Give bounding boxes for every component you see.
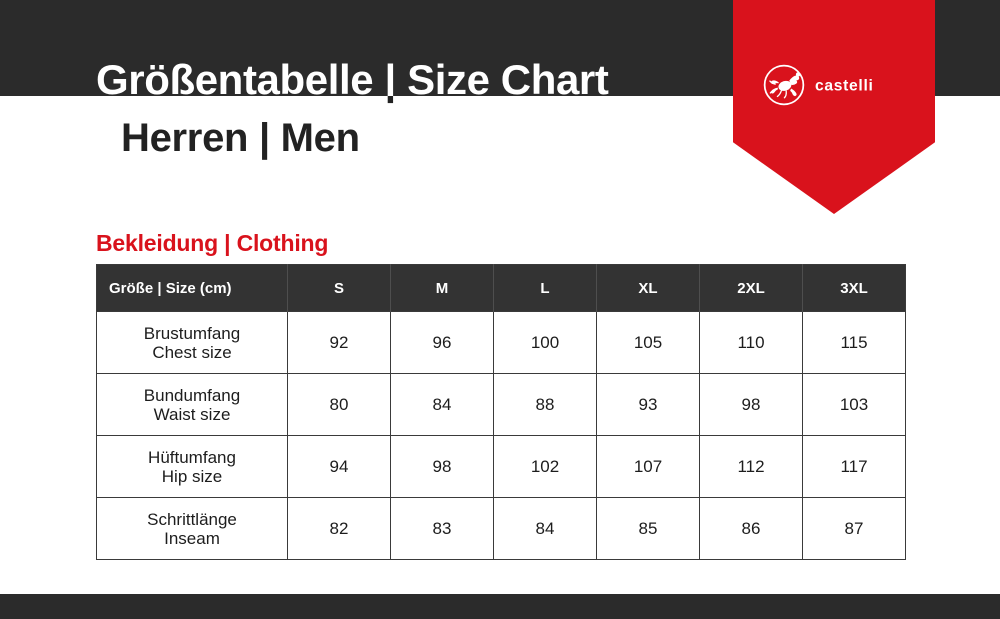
cell-chest-xl: 105 xyxy=(597,312,700,374)
cell-inseam-3xl: 87 xyxy=(803,498,906,560)
cell-chest-2xl: 110 xyxy=(700,312,803,374)
cell-hip-xl: 107 xyxy=(597,436,700,498)
svg-text:castelli: castelli xyxy=(815,78,874,95)
cell-waist-s: 80 xyxy=(288,374,391,436)
cell-hip-2xl: 112 xyxy=(700,436,803,498)
table-row: Bundumfang Waist size 80 84 88 93 98 103 xyxy=(97,374,906,436)
cell-hip-m: 98 xyxy=(391,436,494,498)
cell-waist-2xl: 98 xyxy=(700,374,803,436)
cell-hip-3xl: 117 xyxy=(803,436,906,498)
column-header-m: M xyxy=(391,265,494,312)
row-label-en: Hip size xyxy=(97,467,287,486)
cell-waist-l: 88 xyxy=(494,374,597,436)
column-header-2xl: 2XL xyxy=(700,265,803,312)
row-label-en: Waist size xyxy=(97,405,287,424)
row-label-de: Bundumfang xyxy=(97,386,287,405)
cell-waist-xl: 93 xyxy=(597,374,700,436)
size-chart-page: castelli Größentabelle | Size Chart Größ… xyxy=(0,0,1000,619)
row-label-de: Hüftumfang xyxy=(97,448,287,467)
column-header-label: Größe | Size (cm) xyxy=(97,265,288,312)
footer-band xyxy=(0,594,1000,619)
section-heading-clothing: Bekleidung | Clothing xyxy=(96,230,328,257)
row-label-inseam: Schrittlänge Inseam xyxy=(97,498,288,560)
size-chart-table-wrap: Größe | Size (cm) S M L XL 2XL 3XL Brust… xyxy=(96,264,905,560)
cell-hip-s: 94 xyxy=(288,436,391,498)
table-row: Hüftumfang Hip size 94 98 102 107 112 11… xyxy=(97,436,906,498)
cell-inseam-xl: 85 xyxy=(597,498,700,560)
column-header-l: L xyxy=(494,265,597,312)
cell-chest-l: 100 xyxy=(494,312,597,374)
cell-waist-3xl: 103 xyxy=(803,374,906,436)
cell-inseam-l: 84 xyxy=(494,498,597,560)
castelli-wordmark-icon: castelli xyxy=(815,74,907,96)
table-row: Schrittlänge Inseam 82 83 84 85 86 87 xyxy=(97,498,906,560)
row-label-hip: Hüftumfang Hip size xyxy=(97,436,288,498)
cell-inseam-2xl: 86 xyxy=(700,498,803,560)
table-row: Brustumfang Chest size 92 96 100 105 110… xyxy=(97,312,906,374)
cell-hip-l: 102 xyxy=(494,436,597,498)
brand-logo: castelli xyxy=(733,58,935,112)
column-header-xl: XL xyxy=(597,265,700,312)
cell-waist-m: 84 xyxy=(391,374,494,436)
row-label-de: Brustumfang xyxy=(97,324,287,343)
cell-inseam-m: 83 xyxy=(391,498,494,560)
table-header-row: Größe | Size (cm) S M L XL 2XL 3XL xyxy=(97,265,906,312)
size-chart-table: Größe | Size (cm) S M L XL 2XL 3XL Brust… xyxy=(96,264,906,560)
column-header-3xl: 3XL xyxy=(803,265,906,312)
row-label-waist: Bundumfang Waist size xyxy=(97,374,288,436)
row-label-en: Chest size xyxy=(97,343,287,362)
page-subtitle: Herren | Men xyxy=(121,112,360,164)
cell-chest-m: 96 xyxy=(391,312,494,374)
scorpion-in-circle-icon xyxy=(762,63,806,107)
row-label-en: Inseam xyxy=(97,529,287,548)
column-header-s: S xyxy=(288,265,391,312)
cell-chest-s: 92 xyxy=(288,312,391,374)
brand-pennant: castelli xyxy=(733,0,935,214)
cell-inseam-s: 82 xyxy=(288,498,391,560)
table-body: Brustumfang Chest size 92 96 100 105 110… xyxy=(97,312,906,560)
row-label-de: Schrittlänge xyxy=(97,510,287,529)
row-label-chest: Brustumfang Chest size xyxy=(97,312,288,374)
table-header: Größe | Size (cm) S M L XL 2XL 3XL xyxy=(97,265,906,312)
cell-chest-3xl: 115 xyxy=(803,312,906,374)
